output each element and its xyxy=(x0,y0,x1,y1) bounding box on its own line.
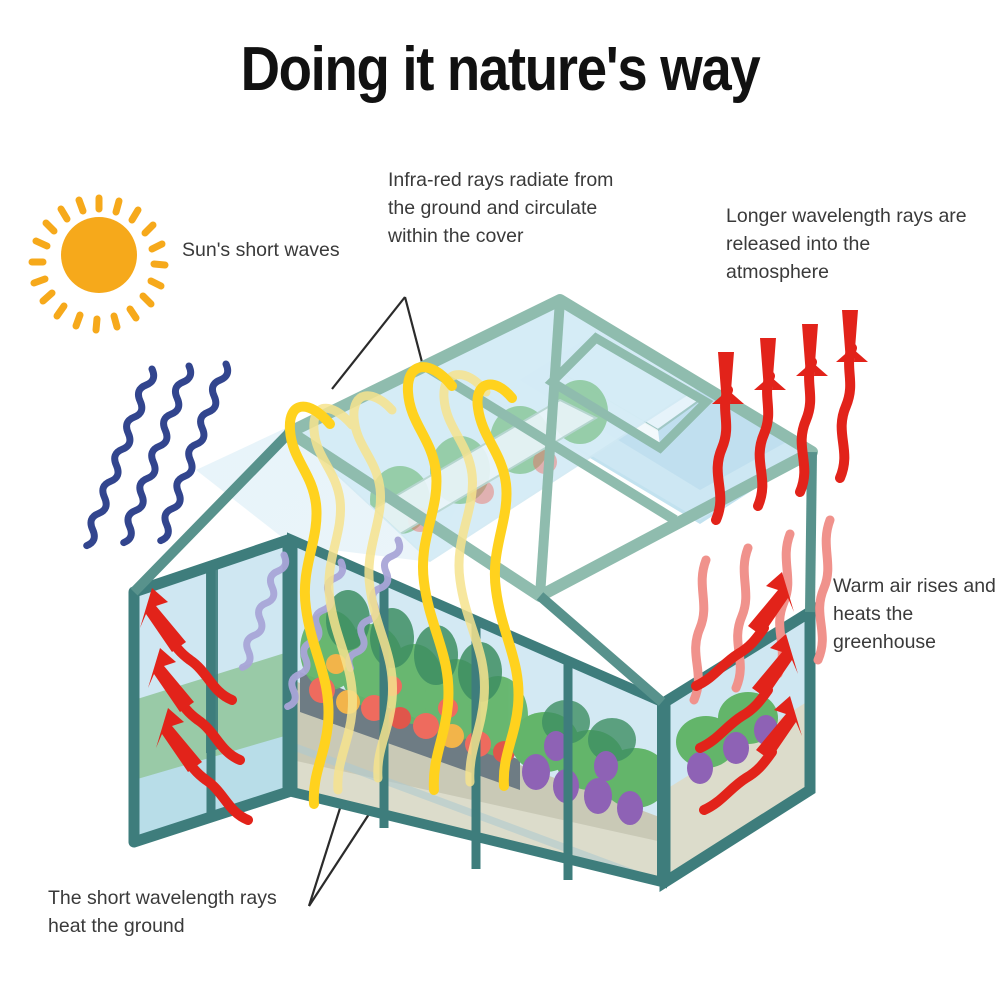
greenhouse-illustration xyxy=(134,300,812,888)
label-sun-short-waves: Sun's short waves xyxy=(182,236,342,264)
label-warm-air-rises: Warm air rises and heats the greenhouse xyxy=(833,572,998,656)
greenhouse-diagram xyxy=(0,0,1000,1000)
label-longer-wavelength: Longer wavelength rays are released into… xyxy=(726,202,976,286)
sun-icon xyxy=(32,198,165,330)
label-infra-red-rays: Infra-red rays radiate from the ground a… xyxy=(388,166,628,250)
infographic-canvas: Doing it nature's way xyxy=(0,0,1000,1000)
short-wave-rays-icon xyxy=(66,363,249,547)
label-short-wavelength: The short wavelength rays heat the groun… xyxy=(48,884,308,940)
